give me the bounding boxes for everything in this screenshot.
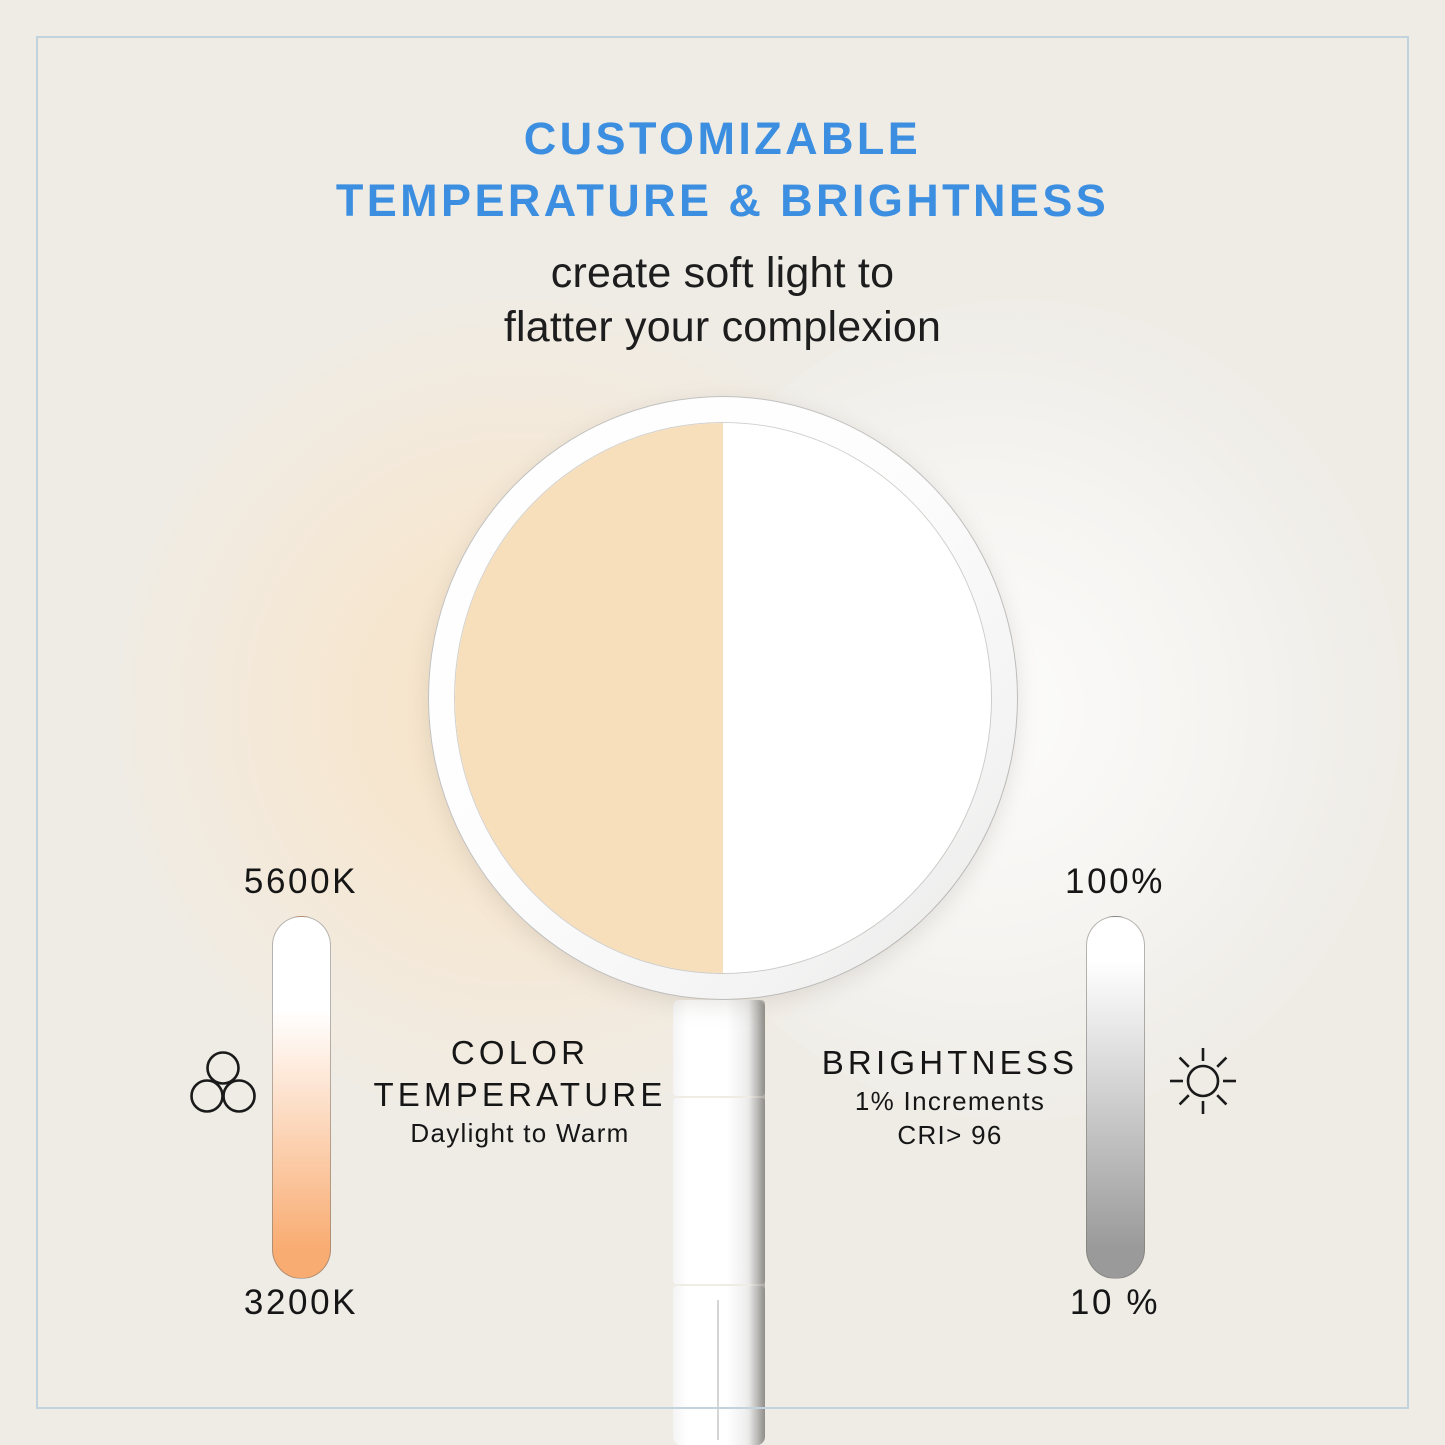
color-temperature-description: COLOR TEMPERATURE Daylight to Warm: [355, 1032, 685, 1150]
subheadline: create soft light to flatter your comple…: [0, 246, 1445, 354]
three-circles-icon: [186, 1046, 260, 1120]
headline-line-2: TEMPERATURE & BRIGHTNESS: [0, 170, 1445, 232]
sun-icon: [1166, 1044, 1240, 1118]
subheadline-line-2: flatter your complexion: [0, 300, 1445, 354]
color-temperature-slider[interactable]: [272, 916, 331, 1279]
panel-warm-half: [455, 423, 723, 973]
color-temperature-title-line-1: COLOR: [355, 1032, 685, 1074]
color-temperature-subtitle: Daylight to Warm: [355, 1116, 685, 1150]
brightness-min-label: 10 %: [985, 1283, 1245, 1323]
stand-shadow-edge: [749, 1000, 765, 1445]
brightness-subtitle-2: CRI> 96: [785, 1118, 1115, 1152]
headline-line-1: CUSTOMIZABLE: [0, 108, 1445, 170]
stand-seam-line: [717, 1300, 719, 1440]
ring-light-head: [428, 396, 1018, 1000]
infographic-canvas: CUSTOMIZABLE TEMPERATURE & BRIGHTNESS cr…: [0, 0, 1445, 1445]
subheadline-line-1: create soft light to: [0, 246, 1445, 300]
headline: CUSTOMIZABLE TEMPERATURE & BRIGHTNESS: [0, 108, 1445, 232]
panel-cool-half: [723, 423, 991, 973]
brightness-title: BRIGHTNESS: [785, 1042, 1115, 1084]
lamp-stand: [673, 1000, 765, 1445]
color-temperature-max-label: 5600K: [171, 862, 431, 902]
brightness-subtitle-1: 1% Increments: [785, 1084, 1115, 1118]
brightness-description: BRIGHTNESS 1% Increments CRI> 96: [785, 1042, 1115, 1152]
ring-light-panel: [454, 422, 992, 974]
color-temperature-title-line-2: TEMPERATURE: [355, 1074, 685, 1116]
brightness-max-label: 100%: [985, 862, 1245, 902]
color-temperature-min-label: 3200K: [171, 1283, 431, 1323]
